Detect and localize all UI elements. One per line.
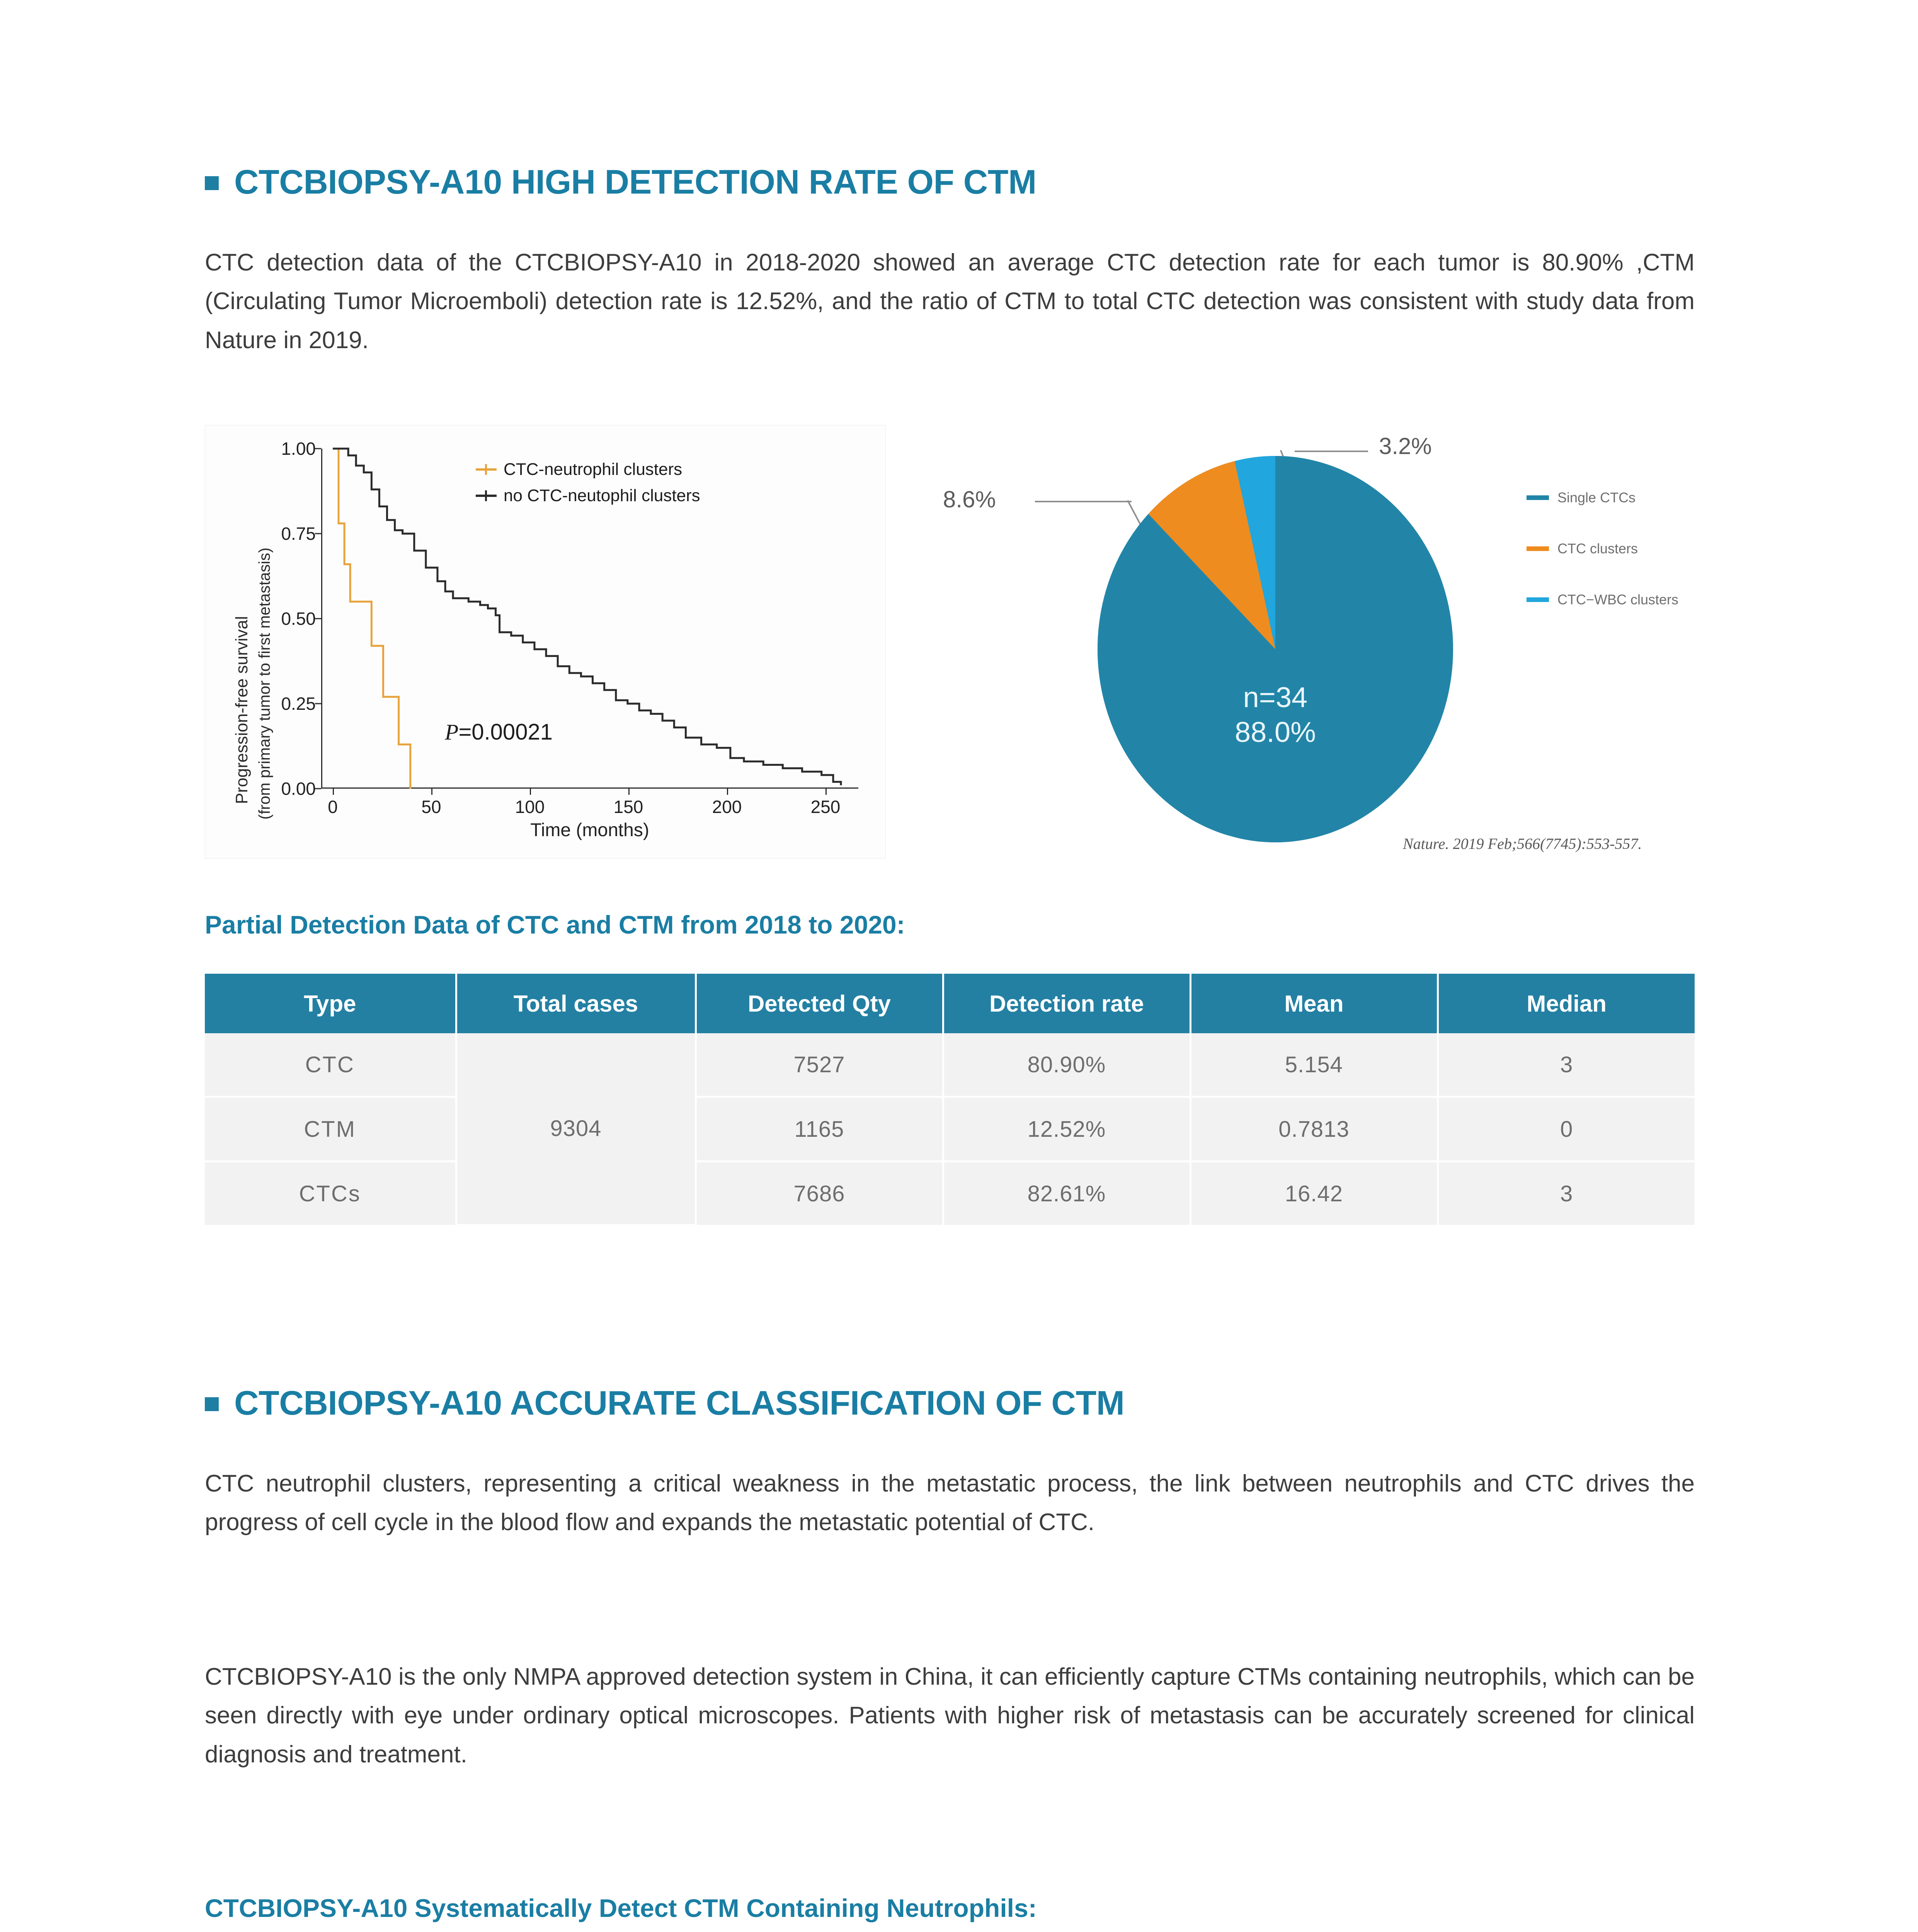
section-heading-2: CTCBIOPSY-A10 ACCURATE CLASSIFICATION OF… <box>205 1383 1125 1423</box>
km-x-axis-label: Time (months) <box>321 820 858 841</box>
km-legend-swatch-orange-icon <box>476 468 497 471</box>
cell-median: 3 <box>1438 1033 1695 1097</box>
table-row: CTC 9304 7527 80.90% 5.154 3 <box>205 1033 1695 1097</box>
figure-citation: Nature. 2019 Feb;566(7745):553-557. <box>1403 835 1642 853</box>
pie-legend-swatch-ctc-wbc-icon <box>1527 597 1549 602</box>
cell-median: 3 <box>1438 1162 1695 1225</box>
km-ytick-2: 0.75 <box>281 523 316 544</box>
pie-legend-item-2: CTC clusters <box>1527 542 1678 556</box>
km-pvalue-annotation: P=0.00021 <box>445 719 553 745</box>
km-pvalue-prefix: P <box>445 719 458 745</box>
cell-median: 0 <box>1438 1097 1695 1162</box>
micrograph-caption: CTCBIOPSY-A10 Systematically Detect CTM … <box>205 1893 1037 1923</box>
pie-legend-swatch-single-ctcs-icon <box>1527 495 1549 500</box>
section-1-title: CTCBIOPSY-A10 HIGH DETECTION RATE OF CTM <box>234 162 1036 202</box>
cell-detected-qty: 7527 <box>696 1033 943 1097</box>
km-xtick-6: 250 <box>811 796 841 817</box>
section-heading-1: CTCBIOPSY-A10 HIGH DETECTION RATE OF CTM <box>205 162 1036 202</box>
km-legend-label-2: no CTC-neutophil clusters <box>504 483 700 509</box>
col-header-detection-rate: Detection rate <box>943 974 1190 1033</box>
km-legend: CTC-neutrophil clusters no CTC-neutophil… <box>476 456 700 509</box>
col-header-type: Type <box>205 974 456 1033</box>
km-xtick-3: 100 <box>515 796 545 817</box>
km-ytick-4: 0.25 <box>281 693 316 714</box>
km-legend-label-1: CTC-neutrophil clusters <box>504 456 682 483</box>
section-2-paragraph-1: CTC neutrophil clusters, representing a … <box>205 1464 1695 1542</box>
cell-total-cases: 9304 <box>456 1033 696 1225</box>
cell-mean: 5.154 <box>1190 1033 1438 1097</box>
table-header-row: Type Total cases Detected Qty Detection … <box>205 974 1695 1033</box>
section-2-paragraph-2: CTCBIOPSY-A10 is the only NMPA approved … <box>205 1658 1695 1774</box>
pie-legend-label-2: CTC clusters <box>1557 542 1638 556</box>
km-ytick-3: 0.50 <box>281 608 316 629</box>
pie-n-label: n=34 <box>1098 680 1453 715</box>
cell-detection-rate: 12.52% <box>943 1097 1190 1162</box>
cell-mean: 0.7813 <box>1190 1097 1438 1162</box>
km-legend-item-2: no CTC-neutophil clusters <box>476 483 700 509</box>
pie-legend-swatch-ctc-clusters-icon <box>1527 546 1549 551</box>
cell-type: CTM <box>205 1097 456 1162</box>
cell-detection-rate: 80.90% <box>943 1033 1190 1097</box>
cell-detected-qty: 7686 <box>696 1162 943 1225</box>
table-caption: Partial Detection Data of CTC and CTM fr… <box>205 910 905 939</box>
pie-legend-item-3: CTC−WBC clusters <box>1527 593 1678 607</box>
km-ylabel-line1: Progression-free survival <box>232 616 252 804</box>
pie-legend-label-3: CTC−WBC clusters <box>1557 593 1678 607</box>
cell-type: CTC <box>205 1033 456 1097</box>
pie-legend: Single CTCs CTC clusters CTC−WBC cluster… <box>1527 491 1678 644</box>
detection-data-table: Type Total cases Detected Qty Detection … <box>205 974 1695 1226</box>
pie-pct-label: 88.0% <box>1098 715 1453 750</box>
pie-leader-86b <box>1127 500 1142 527</box>
cell-detection-rate: 82.61% <box>943 1162 1190 1225</box>
kaplan-meier-chart: Progression-free survival (from primary … <box>205 425 886 859</box>
km-ytick-1: 1.00 <box>281 438 316 459</box>
pie-label-ctc-clusters: 8.6% <box>943 486 996 513</box>
col-header-median: Median <box>1438 974 1695 1033</box>
km-ylabel-line2: (from primary tumor to first metastasis) <box>255 548 274 820</box>
col-header-total-cases: Total cases <box>456 974 696 1033</box>
cell-mean: 16.42 <box>1190 1162 1438 1225</box>
square-bullet-icon <box>205 1397 219 1411</box>
km-y-axis-label: Progression-free survival (from primary … <box>214 441 261 827</box>
section-1-paragraph: CTC detection data of the CTCBIOPSY-A10 … <box>205 243 1695 360</box>
pie-label-ctc-wbc-clusters: 3.2% <box>1379 433 1432 459</box>
km-xtick-1: 0 <box>328 796 338 817</box>
pie-circle: n=34 88.0% <box>1098 456 1453 842</box>
table-row: CTCs 7686 82.61% 16.42 3 <box>205 1162 1695 1225</box>
km-xtick-4: 150 <box>614 796 643 817</box>
cell-detected-qty: 1165 <box>696 1097 943 1162</box>
km-legend-swatch-black-icon <box>476 495 497 497</box>
document-page: CTCBIOPSY-A10 HIGH DETECTION RATE OF CTM… <box>0 0 1918 1932</box>
pie-legend-label-1: Single CTCs <box>1557 491 1635 505</box>
km-pvalue-rest: =0.00021 <box>458 719 553 745</box>
pie-leader-32 <box>1295 451 1368 452</box>
pie-center-label: n=34 88.0% <box>1098 680 1453 750</box>
col-header-mean: Mean <box>1190 974 1438 1033</box>
km-xtick-5: 200 <box>712 796 742 817</box>
square-bullet-icon <box>205 176 219 190</box>
col-header-detected-qty: Detected Qty <box>696 974 943 1033</box>
pie-legend-item-1: Single CTCs <box>1527 491 1678 505</box>
km-xtick-2: 50 <box>421 796 441 817</box>
pie-chart: n=34 88.0% 8.6% 3.2% Single CTCs CTC clu… <box>947 425 1712 869</box>
km-legend-item-1: CTC-neutrophil clusters <box>476 456 700 483</box>
pie-leader-86 <box>1035 501 1132 502</box>
table-row: CTM 1165 12.52% 0.7813 0 <box>205 1097 1695 1162</box>
km-ytick-5: 0.00 <box>281 778 316 799</box>
cell-type: CTCs <box>205 1162 456 1225</box>
figure-row: Progression-free survival (from primary … <box>205 425 1712 869</box>
section-2-title: CTCBIOPSY-A10 ACCURATE CLASSIFICATION OF… <box>234 1383 1125 1423</box>
pie-slices <box>1098 456 1453 842</box>
